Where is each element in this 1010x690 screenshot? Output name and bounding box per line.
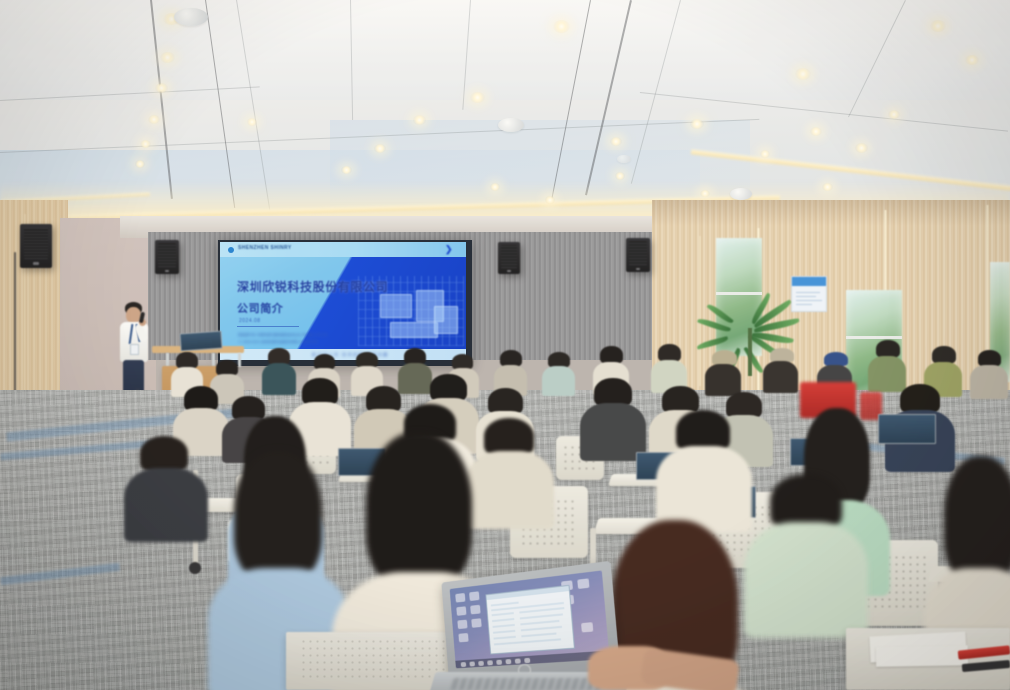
speaker-badge (165, 270, 170, 272)
taskbar-icon[interactable] (461, 662, 467, 667)
attendee-torso (262, 363, 296, 395)
taskbar-icon[interactable] (469, 661, 475, 666)
slide-date: 2024.08 (239, 318, 261, 324)
attendee-cap (770, 348, 794, 362)
taskbar-icon[interactable] (524, 657, 530, 662)
attendee-long-hair (944, 456, 1010, 582)
attendee-torso (466, 451, 554, 529)
laptop-keyboard[interactable] (450, 678, 603, 690)
slide-fineprint-1: 新能源汽车 车载电源 国家高新技术企业 科创板上市公司 (238, 333, 327, 338)
desktop-icon[interactable] (456, 606, 466, 616)
speaker-grille (24, 228, 48, 260)
slide-logo-icon (228, 247, 234, 253)
taskbar-icon[interactable] (515, 658, 521, 663)
slide-divider (237, 326, 299, 327)
presentation-slide: SHENZHEN SHINRY ❯ 深圳欣锐科技股份有限公司 公司简介 2024… (220, 242, 466, 360)
attendee-torso (970, 365, 1008, 399)
podium-leg (166, 353, 169, 367)
right-wall-upper-shadow (652, 200, 1010, 226)
speaker-badge (33, 262, 39, 265)
projection-screen: SHENZHEN SHINRY ❯ 深圳欣锐科技股份有限公司 公司简介 2024… (218, 240, 472, 366)
slide-product-chip (380, 294, 412, 318)
speaker-grille (501, 245, 518, 268)
speaker-badge (636, 268, 641, 270)
podium-leg (212, 353, 215, 367)
document-stack (876, 645, 968, 667)
desktop-icon[interactable] (457, 620, 467, 629)
slide-title: 深圳欣锐科技股份有限公司 (237, 278, 388, 295)
window-mullion (846, 336, 902, 339)
attendee-torso (744, 522, 868, 638)
desktop-icon[interactable] (455, 593, 465, 603)
slide-logo-text: SHENZHEN SHINRY (238, 245, 292, 251)
poster-header-band (792, 277, 826, 286)
attendee-torso (542, 366, 575, 396)
chair-caster (189, 562, 201, 574)
slide-arrow-icon: ❯ (445, 244, 453, 255)
attendee-laptop (878, 414, 936, 444)
desktop-icon[interactable] (469, 591, 479, 601)
taskbar-icon[interactable] (505, 659, 511, 664)
attendee-torso (705, 364, 741, 396)
attendee-torso (868, 356, 906, 392)
speaker-badge (507, 270, 511, 272)
laptop-screen (450, 570, 610, 668)
wall-speaker-stage-right (498, 242, 520, 274)
desktop-icon[interactable] (577, 578, 589, 589)
wall-speaker-stage-left (155, 240, 179, 274)
attendee-long-hair (366, 432, 472, 588)
podium-leg (238, 353, 241, 367)
taskbar-icon[interactable] (496, 659, 502, 664)
attendee-torso (124, 468, 208, 542)
slide-product-chip (434, 306, 458, 334)
slide-fineprint-2: ※ 2005-2024 深圳欣锐科技股份有限公司版权所有 (238, 340, 318, 345)
desktop-icon[interactable] (458, 633, 468, 642)
podium-laptop (179, 331, 222, 352)
wall-speaker-left (20, 224, 52, 268)
slide-subtitle: 公司简介 (237, 300, 283, 316)
speaker-grille (158, 243, 176, 267)
attendee-long-hair (234, 450, 322, 582)
attendee-cap (712, 350, 737, 365)
conference-room-photo: SHENZHEN SHINRY ❯ 深圳欣锐科技股份有限公司 公司简介 2024… (0, 0, 1010, 690)
desktop-icon[interactable] (581, 622, 593, 632)
attendee-torso (398, 363, 432, 394)
slide-product-chip (390, 322, 438, 338)
application-window[interactable] (485, 585, 575, 655)
taskbar-icon[interactable] (478, 660, 484, 665)
desktop-icon[interactable] (471, 618, 481, 628)
speaker-grille (629, 241, 647, 265)
wall-speaker-right (626, 238, 650, 272)
desktop-icon[interactable] (470, 605, 480, 615)
presenter-badge (130, 344, 139, 355)
window-titlebar[interactable] (486, 586, 569, 601)
wall-led-seam (699, 236, 701, 386)
attendee-cap (824, 352, 848, 366)
taskbar-icon[interactable] (487, 660, 493, 665)
attendee-hair (140, 436, 188, 472)
attendee-torso (763, 361, 798, 393)
